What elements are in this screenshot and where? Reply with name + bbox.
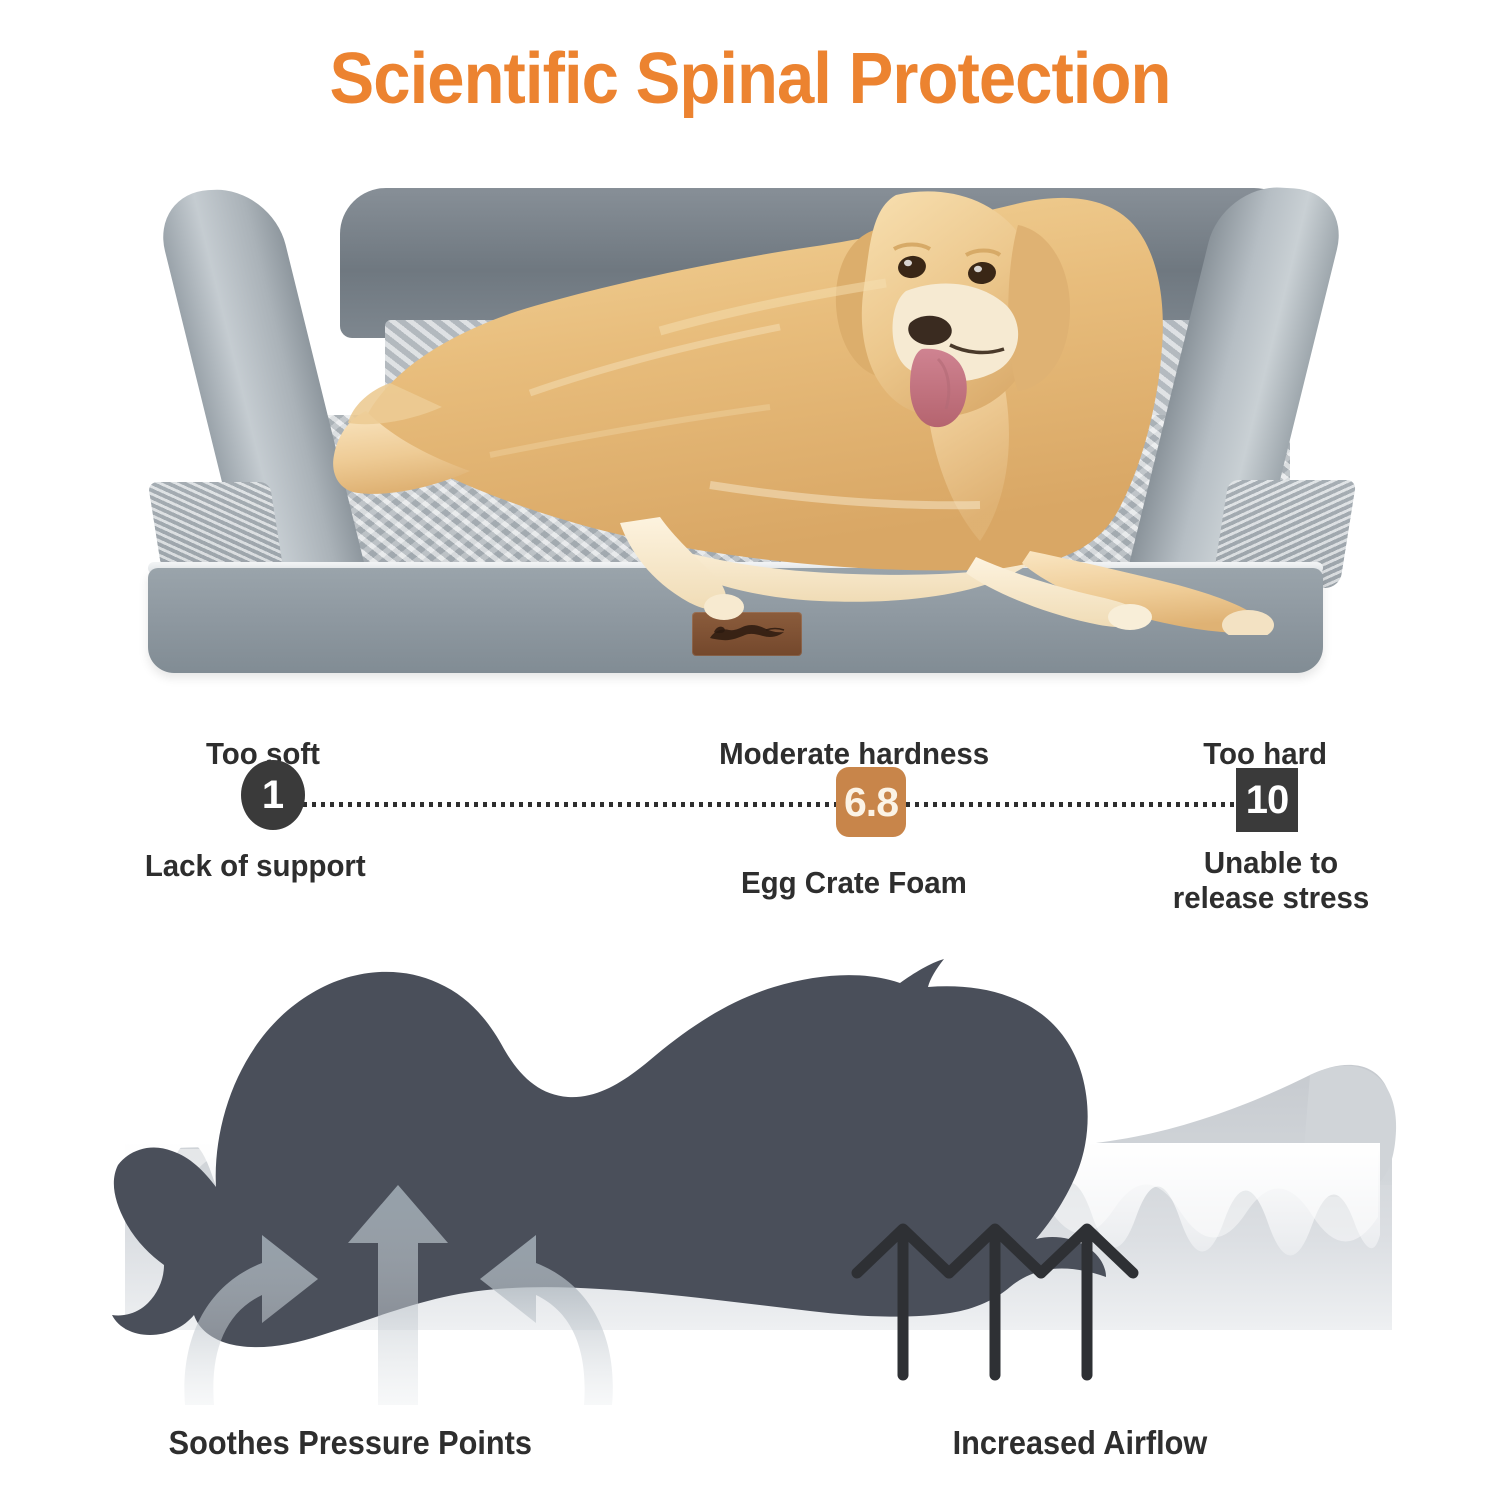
scale-right-bottom-label: Unable to release stress (1162, 846, 1381, 915)
caption-soothes-pressure-points: Soothes Pressure Points (169, 1424, 532, 1462)
golden-retriever-photo (330, 155, 1290, 635)
scale-right-bottom-line2: release stress (1173, 880, 1370, 915)
scale-right-bottom-line1: Unable to (1204, 845, 1338, 880)
infographic-page: Scientific Spinal Protection (0, 0, 1500, 1500)
scale-badge-too-soft: 1 (241, 760, 305, 830)
scale-left-bottom-label: Lack of support (145, 849, 366, 884)
hero-product-photo (130, 160, 1370, 705)
airflow-arrows (857, 1229, 1133, 1375)
scale-badge-moderate: 6.8 (836, 767, 906, 837)
caption-increased-airflow: Increased Airflow (953, 1424, 1208, 1462)
scale-dotted-track (285, 802, 1250, 807)
scale-middle-bottom-label: Egg Crate Foam (741, 866, 967, 901)
foam-airflow-diagram (0, 935, 1500, 1405)
page-title: Scientific Spinal Protection (53, 38, 1448, 120)
scale-badge-too-hard: 10 (1236, 768, 1298, 832)
scale-right-top-label: Too hard (1203, 736, 1327, 772)
